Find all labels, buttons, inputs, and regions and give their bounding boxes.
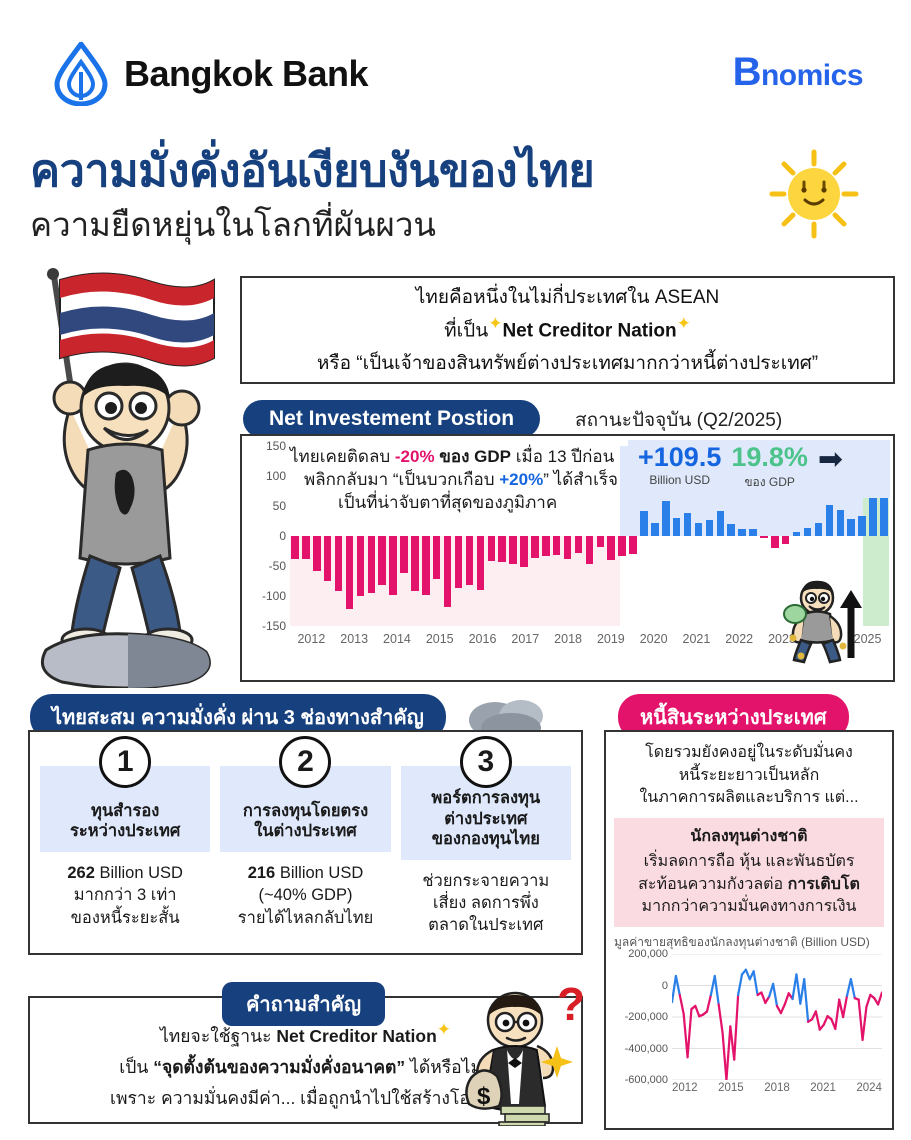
niip-bar: [444, 536, 452, 607]
smiling-sun-icon: [768, 148, 860, 240]
line-chart-segment: [773, 984, 777, 1006]
debt-alert-box: นักลงทุนต่างชาติ เริ่มลดการถือ หุ้น และพ…: [614, 818, 884, 927]
statement-line-2: ที่เป็น✦Net Creditor Nation✦: [444, 314, 691, 345]
debt-panel: โดยรวมยังคงอยู่ในระดับมั่นคง หนี้ระยะยาว…: [604, 730, 894, 1130]
niip-chart-panel: 150100500-50-100-150 2012201320142015201…: [240, 434, 895, 682]
channel-2-value-unit: Billion USD: [275, 864, 363, 882]
niip-x-tick: 2012: [290, 632, 333, 646]
niip-bar: [564, 536, 572, 559]
line-chart-x-tick: 2021: [810, 1082, 836, 1094]
niip-y-tick: -50: [269, 559, 286, 573]
statement-line-2-bold: Net Creditor Nation: [502, 321, 676, 342]
niip-y-tick: 100: [266, 469, 286, 483]
niip-bar: [717, 511, 725, 536]
line-chart-segment: [695, 1006, 699, 1016]
line-chart-segment: [734, 995, 738, 1060]
niip-y-tick: 150: [266, 439, 286, 453]
bnomics-logo: Bnomics: [733, 50, 863, 95]
line-chart-segment: [835, 1000, 839, 1029]
kpi-gdp-value: 19.8%: [731, 444, 808, 471]
debt-alert-line-2-a: สะท้อนความกังวลต่อ: [638, 876, 787, 893]
note1-d: เมื่อ 13 ปีก่อน: [511, 447, 614, 466]
statement-line-1: ไทยคือหนึ่งในไม่กี่ประเทศใน ASEAN: [416, 282, 719, 312]
channel-1-value-unit: Billion USD: [95, 864, 183, 882]
channel-number-3: 3: [460, 736, 512, 788]
niip-note-line-2: พลิกกลับมา “เป็นบวกเกือบ +20%” ได้สำเร็จ: [290, 469, 680, 492]
niip-y-tick: -150: [262, 619, 286, 633]
niip-bar: [858, 516, 866, 536]
niip-bar: [466, 536, 474, 585]
channel-body-2: 216 Billion USD (~40% GDP) รายได้ไหลกลับ…: [238, 852, 374, 929]
niip-bar: [520, 536, 528, 567]
page-header: Bangkok Bank Bnomics: [0, 42, 911, 112]
channel-2-body-line-3: รายได้ไหลกลับไทย: [238, 907, 374, 929]
channel-3-body-line-2: เสี่ยง ลดการพึ่ง: [422, 892, 549, 914]
niip-x-tick: 2015: [418, 632, 461, 646]
channel-column-1: 1 ทุนสำรอง ระหว่างประเทศ 262 Billion USD…: [40, 766, 210, 943]
channel-1-head-line-2: ระหว่างประเทศ: [44, 821, 206, 842]
niip-bar: [313, 536, 321, 571]
channel-3-head-line-3: ของกองทุนไทย: [405, 829, 567, 850]
note2-b: +20%: [499, 470, 543, 489]
note1-c: ของ GDP: [439, 447, 511, 466]
channel-number-2: 2: [279, 736, 331, 788]
channel-column-2: 2 การลงทุนโดยตรง ในต่างประเทศ 216 Billio…: [220, 766, 390, 943]
niip-bar: [651, 523, 659, 536]
niip-bar: [422, 536, 430, 595]
niip-x-tick: 2022: [718, 632, 761, 646]
question-section-tab: คำถามสำคัญ: [222, 982, 385, 1026]
niip-bar: [411, 536, 419, 591]
niip-bar: [804, 528, 812, 536]
line-chart-x-tick: 2015: [718, 1082, 744, 1094]
svg-text:$: $: [477, 1083, 491, 1110]
channel-3-body-line-1: ช่วยกระจายความ: [422, 870, 549, 892]
thai-flag-strongman-icon: [12, 258, 237, 688]
line-chart-segment: [680, 995, 684, 1014]
line-chart-segment: [761, 993, 765, 1003]
niip-bar: [302, 536, 310, 559]
line-chart-x-axis: 20122015201820212024: [672, 1082, 882, 1094]
statement-box: ไทยคือหนึ่งในไม่กี่ประเทศใน ASEAN ที่เป็…: [240, 276, 895, 384]
line-chart-y-tick: -600,000: [625, 1074, 668, 1086]
niip-bar: [335, 536, 343, 591]
niip-bar: [586, 536, 594, 564]
brand-block: Bangkok Bank: [52, 42, 368, 106]
question-line-3: เพราะ ความมั่นคงมีค่า... เมื่อถูกนำไปใช้…: [110, 1084, 501, 1112]
line-chart-segment: [719, 1004, 723, 1032]
question-line-1-b: Net Creditor Nation: [276, 1026, 436, 1046]
niip-bar: [542, 536, 550, 556]
niip-bar: [488, 536, 496, 561]
channel-column-3: 3 พอร์ตการลงทุน ต่างประเทศ ของกองทุนไทย …: [401, 766, 571, 943]
niip-bar: [618, 536, 626, 556]
sparkle-icon-3: ✦: [437, 1020, 451, 1039]
note2-c: ” ได้สำเร็จ: [543, 470, 618, 489]
niip-bar: [368, 536, 376, 593]
line-chart-segment: [878, 993, 882, 1005]
right-arrow-icon: ➡: [818, 446, 843, 473]
line-chart-segment: [866, 995, 870, 1007]
line-chart-x-tick: 2024: [856, 1082, 882, 1094]
line-chart-plot: [672, 954, 882, 1080]
question-line-2-b: “จุดตั้งต้นของความมั่งคั่งอนาคต”: [153, 1057, 405, 1077]
line-chart-y-axis: 200,0000-200,000-400,000-600,000: [614, 954, 670, 1080]
niip-bar: [727, 524, 735, 536]
note1-a: ไทยเคยติดลบ: [290, 447, 395, 466]
line-chart-segment: [754, 971, 758, 995]
niip-bar: [771, 536, 779, 548]
niip-bar: [706, 520, 714, 536]
debt-alert-line-2: สะท้อนความกังวลต่อ การเติบโต: [620, 874, 878, 897]
page-subtitle: ความยืดหยุ่นในโลกที่ผันผวน: [30, 198, 436, 251]
niip-y-tick: -100: [262, 589, 286, 603]
note2-a: พลิกกลับมา “เป็นบวกเกือบ: [304, 470, 499, 489]
line-chart-y-tick: -200,000: [625, 1011, 668, 1023]
niip-note-line-3: เป็นที่น่าจับตาที่สุดของภูมิภาค: [290, 492, 680, 515]
brand-name: Bangkok Bank: [124, 53, 368, 95]
kpi-gdp: 19.8% ของ GDP: [731, 444, 808, 492]
channel-body-3: ช่วยกระจายความ เสี่ยง ลดการพึ่ง ตลาดในปร…: [422, 860, 549, 937]
debt-intro-line-1: โดยรวมยังคงอยู่ในระดับมั่นคง: [614, 742, 884, 765]
bnomics-initial: B: [733, 50, 761, 94]
niip-bar: [782, 536, 790, 544]
niip-bar: [378, 536, 386, 585]
niip-bar: [826, 505, 834, 536]
niip-bar: [760, 536, 768, 538]
kpi-gdp-unit: ของ GDP: [744, 473, 795, 492]
line-chart-segment: [781, 1004, 785, 1013]
line-chart-segment: [707, 995, 711, 1012]
niip-bar: [629, 536, 637, 554]
niip-bar: [815, 523, 823, 536]
niip-bar: [346, 536, 354, 609]
niip-x-tick: 2016: [461, 632, 504, 646]
debt-alert-heading: นักลงทุนต่างชาติ: [620, 826, 878, 849]
niip-y-axis: 150100500-50-100-150: [246, 446, 286, 626]
line-chart-x-tick: 2012: [672, 1082, 698, 1094]
line-chart-segment: [738, 975, 742, 995]
niip-section-tab: Net Investement Postion: [243, 400, 540, 438]
line-chart-segment: [816, 1012, 820, 1030]
line-chart-segment: [688, 1009, 692, 1057]
statement-line-2-prefix: ที่เป็น: [444, 321, 488, 342]
line-chart-segment: [863, 1007, 867, 1040]
niip-bar: [477, 536, 485, 590]
niip-x-tick: 2013: [333, 632, 376, 646]
muscular-man-with-money-icon: [771, 572, 867, 664]
niip-bar: [597, 536, 605, 547]
niip-bar: [400, 536, 408, 573]
line-chart-segment: [859, 1000, 863, 1040]
kpi-usd-value: +109.5: [638, 444, 721, 471]
niip-bar: [498, 536, 506, 562]
debt-alert-line-2-b: การเติบโต: [788, 876, 860, 893]
niip-kpi-box: +109.5 Billion USD 19.8% ของ GDP ➡: [628, 440, 890, 498]
sparkle-icon-2: ✦: [677, 314, 691, 333]
line-chart-segment: [746, 970, 750, 979]
line-chart-segment: [672, 976, 676, 1002]
line-chart-segment: [726, 1026, 730, 1080]
niip-bar: [575, 536, 583, 553]
niip-bar: [793, 532, 801, 536]
niip-x-tick: 2018: [547, 632, 590, 646]
niip-bar: [837, 510, 845, 536]
channel-1-body-line-2: มากกว่า 3 เท่า: [67, 884, 183, 906]
niip-x-tick: 2014: [376, 632, 419, 646]
niip-bar: [553, 536, 561, 555]
channel-number-1: 1: [99, 736, 151, 788]
niip-y-tick: 0: [279, 529, 286, 543]
line-chart-segment: [785, 993, 789, 1004]
niip-bar: [389, 536, 397, 595]
channel-2-value: 216: [248, 864, 276, 882]
note1-b: -20%: [395, 447, 439, 466]
channel-2-head-line-1: การลงทุนโดยตรง: [224, 801, 386, 822]
channel-2-value-row: 216 Billion USD: [238, 862, 374, 884]
line-chart-x-tick: 2018: [764, 1082, 790, 1094]
niip-x-tick: 2017: [504, 632, 547, 646]
niip-y-tick: 50: [273, 499, 286, 513]
line-chart-y-tick: 0: [662, 980, 668, 992]
niip-bar: [509, 536, 517, 564]
channel-1-value-row: 262 Billion USD: [67, 862, 183, 884]
kpi-usd-unit: Billion USD: [649, 473, 710, 487]
niip-x-tick: 2019: [589, 632, 632, 646]
niip-bar: [607, 536, 615, 560]
line-chart-segment: [843, 996, 847, 1017]
channel-2-body-line-2: (~40% GDP): [238, 884, 374, 906]
svg-text:?: ?: [557, 980, 585, 1030]
foreign-investor-line-chart: 200,0000-200,000-400,000-600,000 2012201…: [614, 954, 884, 1104]
niip-note: ไทยเคยติดลบ -20% ของ GDP เมื่อ 13 ปีก่อน…: [290, 446, 680, 515]
line-chart-y-tick: 200,000: [628, 948, 668, 960]
channel-3-head-line-2: ต่างประเทศ: [405, 809, 567, 830]
niip-bar: [433, 536, 441, 579]
niip-x-tick: 2021: [675, 632, 718, 646]
niip-bar: [695, 523, 703, 536]
bnomics-suffix: nomics: [761, 59, 863, 92]
channel-1-head-line-1: ทุนสำรอง: [44, 801, 206, 822]
niip-bar: [531, 536, 539, 558]
line-chart-segment: [824, 1016, 828, 1025]
question-line-1-a: ไทยจะใช้ฐานะ: [160, 1026, 276, 1046]
niip-bar: [357, 536, 365, 596]
sparkle-icon: ✦: [488, 314, 502, 333]
channel-2-head-line-2: ในต่างประเทศ: [224, 821, 386, 842]
niip-bar: [455, 536, 463, 588]
niip-bar: [673, 518, 681, 536]
niip-bar: [847, 519, 855, 536]
line-chart-segment: [796, 975, 800, 1004]
question-line-2-a: เป็น: [119, 1057, 153, 1077]
debt-intro: โดยรวมยังคงอยู่ในระดับมั่นคง หนี้ระยะยาว…: [614, 742, 884, 810]
bangkok-bank-diamond-logo-icon: [52, 42, 110, 106]
debt-intro-line-2: หนี้ระยะยาวเป็นหลัก: [614, 765, 884, 788]
niip-bar: [291, 536, 299, 559]
niip-note-line-1: ไทยเคยติดลบ -20% ของ GDP เมื่อ 13 ปีก่อน: [290, 446, 680, 469]
niip-bar: [684, 513, 692, 536]
debt-intro-line-3: ในภาคการผลิตและบริการ แต่...: [614, 787, 884, 810]
channel-1-body-line-3: ของหนี้ระยะสั้น: [67, 907, 183, 929]
niip-bar: [324, 536, 332, 581]
channels-panel: 1 ทุนสำรอง ระหว่างประเทศ 262 Billion USD…: [28, 730, 583, 955]
niip-bar: [738, 529, 746, 536]
thinking-man-with-money-bag-icon: ? $: [457, 980, 587, 1126]
line-chart-segment: [715, 976, 719, 1004]
niip-caption: สถานะปัจจุบัน (Q2/2025): [575, 405, 782, 435]
statement-line-3: หรือ “เป็นเจ้าของสินทรัพย์ต่างประเทศมากก…: [317, 348, 818, 378]
line-chart-y-tick: -400,000: [625, 1043, 668, 1055]
kpi-usd: +109.5 Billion USD: [638, 444, 721, 487]
channel-1-value: 262: [67, 864, 95, 882]
line-chart-segment: [851, 979, 855, 998]
channel-body-1: 262 Billion USD มากกว่า 3 เท่า ของหนี้ระ…: [67, 852, 183, 929]
channel-3-body-line-3: ตลาดในประเทศ: [422, 914, 549, 936]
question-line-2: เป็น “จุดตั้งต้นของความมั่งคั่งอนาคต” ได…: [119, 1053, 491, 1081]
niip-x-tick: 2020: [632, 632, 675, 646]
page-title: ความมั่งคั่งอันเงียบงันของไทย: [30, 134, 594, 206]
debt-alert-line-1: เริ่มลดการถือ หุ้น และพันธบัตร: [620, 851, 878, 874]
debt-alert-line-3: มากกว่าความมั่นคงทางการเงิน: [620, 896, 878, 919]
niip-bar: [749, 529, 757, 536]
niip-bar: [869, 493, 877, 536]
channel-3-head-line-1: พอร์ตการลงทุน: [405, 788, 567, 809]
